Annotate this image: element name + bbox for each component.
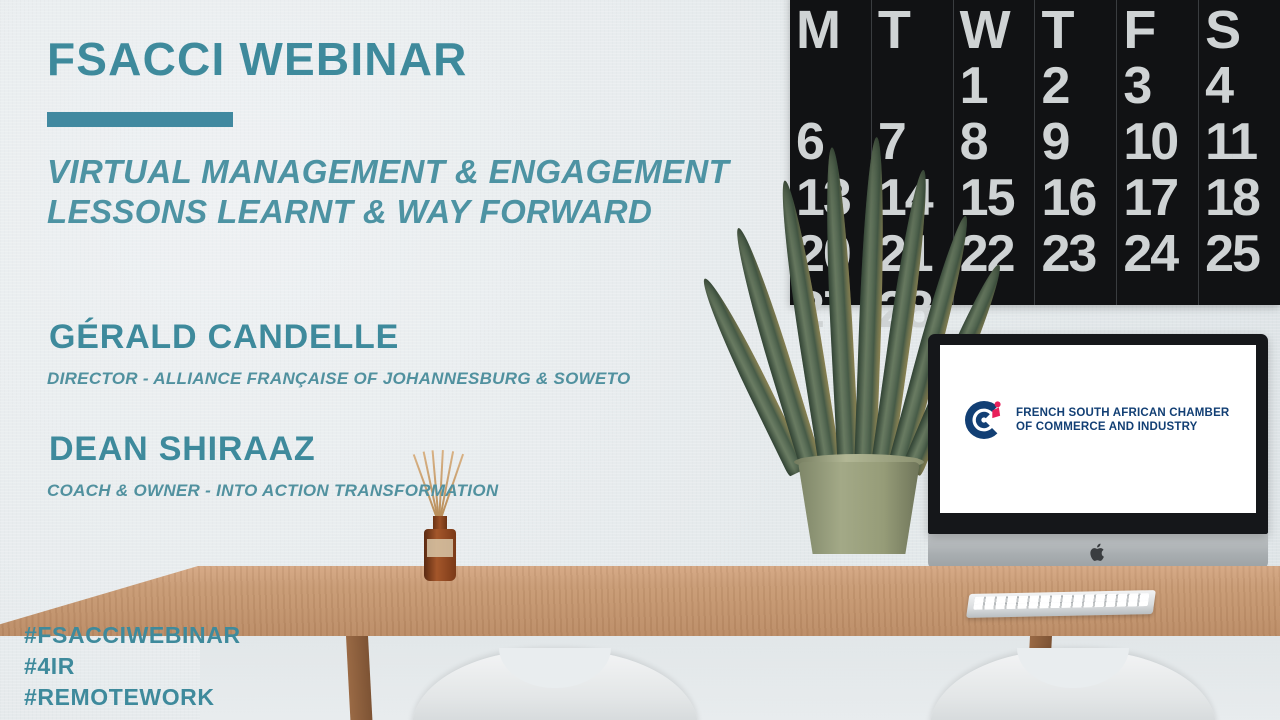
- calendar-day-cell: [1199, 282, 1280, 338]
- speaker-name-2: DEAN SHIRAAZ: [49, 430, 498, 469]
- apple-logo-icon: [1090, 543, 1106, 562]
- plant-pot: [798, 462, 920, 554]
- calendar-weekday-header: M: [790, 2, 871, 58]
- calendar-day-cell: 18: [1199, 170, 1280, 226]
- speaker-block-2: DEAN SHIRAAZ COACH & OWNER - INTO ACTION…: [47, 430, 498, 501]
- calendar-column-2: W181522: [953, 0, 1035, 305]
- cci-monogram-icon: [962, 398, 1006, 442]
- calendar-day-cell: [872, 58, 953, 114]
- calendar-day-cell: [1117, 282, 1198, 338]
- calendar-day-cell: 8: [954, 114, 1035, 170]
- hashtag-3: #REMOTEWORK: [24, 682, 241, 713]
- subtitle-line-2: LESSONS LEARNT & WAY FORWARD: [47, 192, 729, 232]
- imac-chin: [928, 534, 1268, 570]
- calendar-day-cell: [1035, 282, 1116, 338]
- calendar-day-cell: 17: [1117, 170, 1198, 226]
- speaker-block-1: GÉRALD CANDELLE DIRECTOR - ALLIANCE FRAN…: [47, 318, 631, 389]
- subtitle-line-1: VIRTUAL MANAGEMENT & ENGAGEMENT: [47, 152, 729, 192]
- calendar-weekday-header: F: [1117, 2, 1198, 58]
- subtitle: VIRTUAL MANAGEMENT & ENGAGEMENT LESSONS …: [47, 152, 729, 232]
- apple-keyboard: [966, 590, 1156, 618]
- hashtag-list: #FSACCIWEBINAR #4IR #REMOTEWORK: [24, 620, 241, 713]
- calendar-day-cell: 24: [1117, 226, 1198, 282]
- calendar-day-cell: 23: [1035, 226, 1116, 282]
- fsacci-logo-line2: OF COMMERCE AND INDUSTRY: [1016, 420, 1229, 434]
- title-accent-bar: [47, 112, 233, 127]
- calendar-weekday-header: S: [1199, 2, 1280, 58]
- fsacci-logo-line1: FRENCH SOUTH AFRICAN CHAMBER: [1016, 406, 1229, 420]
- speaker-role-2: COACH & OWNER - INTO ACTION TRANSFORMATI…: [47, 481, 498, 501]
- hashtag-1: #FSACCIWEBINAR: [24, 620, 241, 651]
- calendar-day-cell: 2: [1035, 58, 1116, 114]
- fsacci-logo: FRENCH SOUTH AFRICAN CHAMBER OF COMMERCE…: [962, 398, 1229, 442]
- calendar-day-cell: 4: [1199, 58, 1280, 114]
- calendar-weekday-header: W: [954, 2, 1035, 58]
- calendar-day-cell: 25: [1199, 226, 1280, 282]
- hashtag-2: #4IR: [24, 651, 241, 682]
- reed-diffuser-bottle: [424, 529, 456, 581]
- fsacci-logo-text: FRENCH SOUTH AFRICAN CHAMBER OF COMMERCE…: [1016, 406, 1229, 434]
- calendar-day-cell: 16: [1035, 170, 1116, 226]
- calendar-weekday-header: T: [872, 2, 953, 58]
- calendar-day-cell: 1: [954, 58, 1035, 114]
- speaker-name-1: GÉRALD CANDELLE: [49, 318, 631, 357]
- calendar-column-3: T291623: [1034, 0, 1116, 305]
- page-title: FSACCI WEBINAR: [47, 32, 468, 86]
- calendar-day-cell: 3: [1117, 58, 1198, 114]
- webinar-slide: M6132027T7142128W181522T291623F3101724S4…: [0, 0, 1280, 720]
- calendar-day-cell: 9: [1035, 114, 1116, 170]
- calendar-column-4: F3101724: [1116, 0, 1198, 305]
- calendar-column-5: S4111825: [1198, 0, 1280, 305]
- bottle-label: [427, 539, 453, 557]
- calendar-day-cell: 11: [1199, 114, 1280, 170]
- speaker-role-1: DIRECTOR - ALLIANCE FRANÇAISE OF JOHANNE…: [47, 369, 631, 389]
- calendar-day-cell: 10: [1117, 114, 1198, 170]
- calendar-weekday-header: T: [1035, 2, 1116, 58]
- calendar-day-cell: [790, 58, 871, 114]
